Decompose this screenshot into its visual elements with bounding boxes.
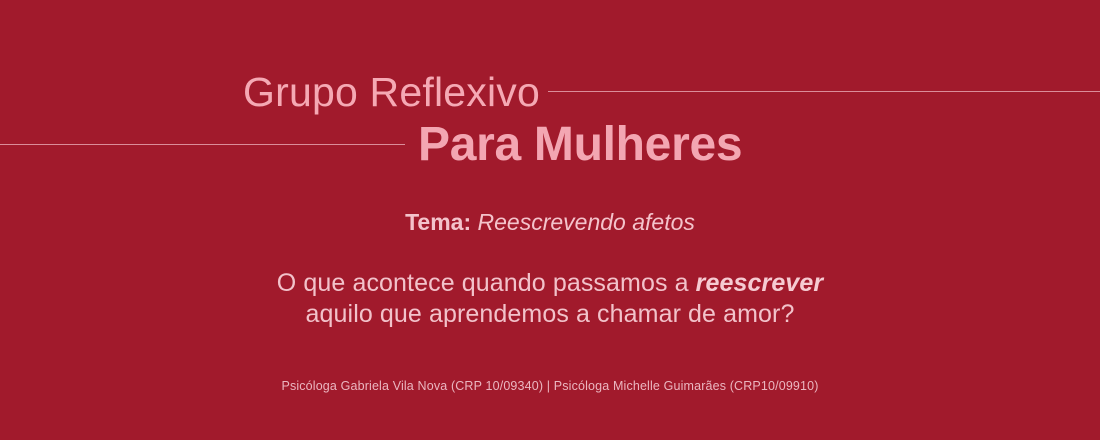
decorative-rule-top-right: [548, 91, 1100, 92]
event-poster-banner: Grupo Reflexivo Para Mulheres Tema: Rees…: [0, 0, 1100, 440]
poster-title-secondary: Para Mulheres: [418, 113, 742, 177]
topic-value: Reescrevendo afetos: [478, 209, 695, 235]
psychologist-credits: Psicóloga Gabriela Vila Nova (CRP 10/093…: [0, 378, 1100, 394]
topic-label: Tema:: [405, 209, 471, 235]
decorative-rule-left: [0, 144, 405, 145]
question-line-2: aquilo que aprendemos a chamar de amor?: [0, 299, 1100, 330]
question-line-1: O que acontece quando passamos a reescre…: [0, 268, 1100, 299]
poster-body: Tema: Reescrevendo afetos O que acontece…: [0, 205, 1100, 330]
question-line-1-emphasis: reescrever: [696, 269, 824, 297]
question-text: O que acontece quando passamos a reescre…: [0, 268, 1100, 330]
title-row-bottom: Para Mulheres: [0, 113, 1100, 177]
topic-line: Tema: Reescrevendo afetos: [0, 205, 1100, 239]
question-line-1-prefix: O que acontece quando passamos a: [277, 269, 696, 297]
poster-header: Grupo Reflexivo Para Mulheres: [0, 0, 1100, 190]
